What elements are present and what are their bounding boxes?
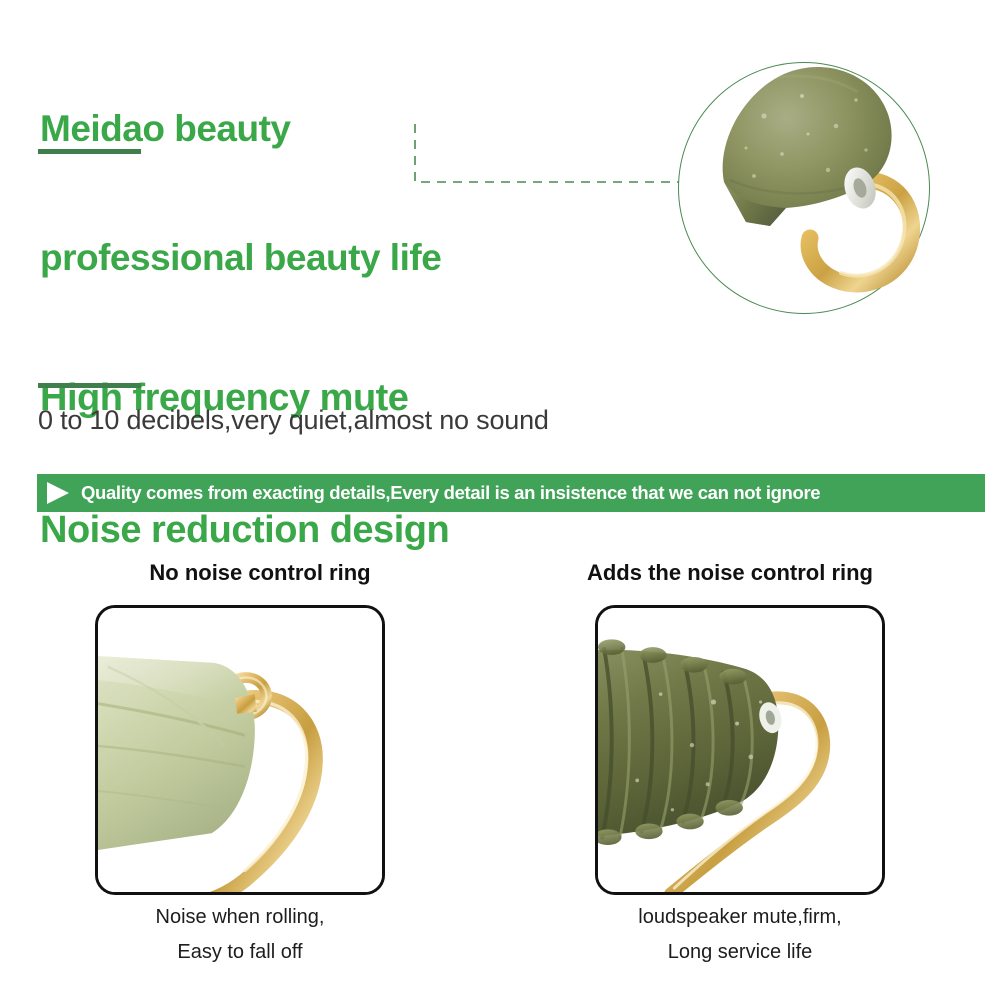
quality-banner-text: Quality comes from exacting details,Ever… — [81, 482, 820, 504]
hero-product-figure — [660, 30, 980, 340]
feature-heading-line-2: Noise reduction design — [40, 508, 449, 552]
brand-heading-line-2: professional beauty life — [40, 237, 441, 280]
comparison-caption-left-line-1: Noise when rolling, — [95, 900, 385, 935]
hero-product-photo — [660, 30, 980, 340]
product-marketing-page: Meidao beauty professional beauty life H… — [0, 0, 1000, 1000]
comparison-caption-left-line-2: Easy to fall off — [95, 935, 385, 970]
brand-heading-line-1: Meidao beauty — [40, 108, 441, 151]
play-triangle-icon — [47, 482, 69, 504]
comparison-photo-right — [595, 605, 885, 895]
feature-subtitle: 0 to 10 decibels,very quiet,almost no so… — [38, 405, 549, 436]
comparison-caption-right-line-2: Long service life — [595, 935, 885, 970]
accent-rule-brand — [38, 149, 141, 154]
comparison-title-right: Adds the noise control ring — [585, 560, 875, 586]
comparison-title-left: No noise control ring — [115, 560, 405, 586]
jade-roller-without-noise-ring-photo — [98, 608, 382, 892]
comparison-photo-left — [95, 605, 385, 895]
quality-banner: Quality comes from exacting details,Ever… — [37, 474, 985, 512]
feature-heading: High frequency mute Noise reduction desi… — [40, 288, 449, 641]
accent-rule-feature — [38, 383, 141, 388]
jade-roller-with-noise-ring-photo — [598, 608, 882, 892]
comparison-caption-left: Noise when rolling, Easy to fall off — [95, 900, 385, 970]
comparison-caption-right: loudspeaker mute,firm, Long service life — [595, 900, 885, 970]
comparison-caption-right-line-1: loudspeaker mute,firm, — [595, 900, 885, 935]
